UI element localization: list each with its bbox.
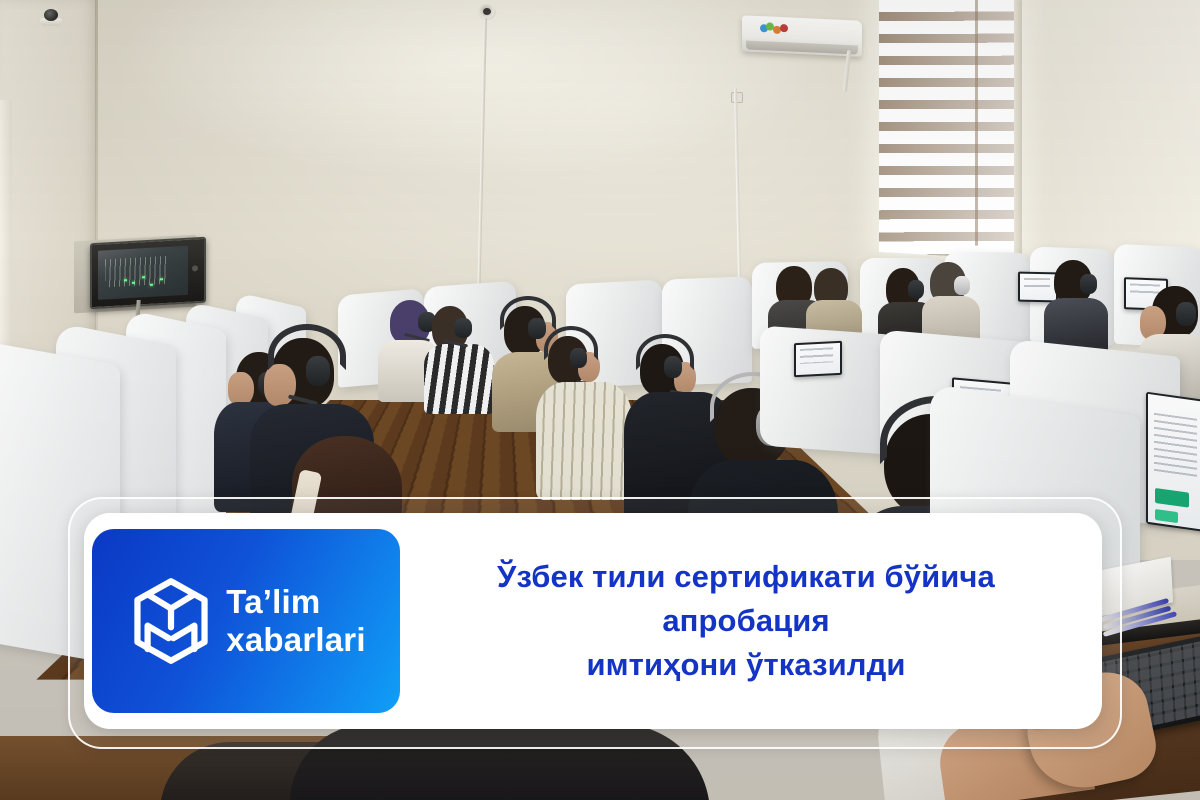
headline-area: Ўзбек тили сертификати бўйича апробация … (400, 513, 1102, 729)
headline: Ўзбек тили сертификати бўйича апробация … (424, 555, 1068, 687)
headset-earcup (908, 280, 924, 299)
computer-monitor (794, 341, 842, 378)
computer-monitor (1018, 272, 1058, 303)
student-face (264, 364, 296, 406)
headset-earcup (1080, 274, 1097, 294)
brand-wordmark-line2: xabarlari (226, 621, 365, 659)
headset-earcup (454, 318, 472, 338)
screen-text-lines (1154, 413, 1197, 480)
headset-earcup (570, 348, 587, 368)
headline-line1: Ўзбек тили сертификати бўйича апробация (424, 555, 1068, 643)
headline-line2: имтиҳони ўтказилди (424, 643, 1068, 687)
headset-earcup (664, 356, 682, 378)
brand-logo-tile[interactable]: Ta’lim xabarlari (92, 529, 400, 713)
cube-hexagon-logo-icon (132, 577, 210, 665)
monitor-screen (796, 343, 840, 375)
banner-card: Ta’lim xabarlari Ўзбек тили сертификати … (84, 513, 1102, 729)
screenshot-root: Ta’lim xabarlari Ўзбек тили сертификати … (0, 0, 1200, 800)
screen-green-button (1155, 488, 1189, 507)
headset-earcup (1176, 302, 1196, 326)
screen-green-bar (1155, 509, 1178, 524)
screen-text-lines (800, 347, 833, 363)
headset-earcup (528, 318, 546, 339)
headset-earcup (306, 356, 330, 386)
computer-monitor (1146, 392, 1200, 533)
headset-earcup-white (954, 276, 970, 295)
student-striped-shirt (536, 382, 632, 500)
brand-wordmark-line1: Ta’lim (226, 583, 365, 621)
brand-wordmark: Ta’lim xabarlari (226, 583, 365, 660)
student-face (228, 372, 254, 406)
student-striped-shirt (424, 344, 494, 414)
screen-text-lines (1024, 277, 1051, 290)
monitor-screen (1148, 394, 1200, 530)
monitor-screen (1020, 274, 1056, 301)
